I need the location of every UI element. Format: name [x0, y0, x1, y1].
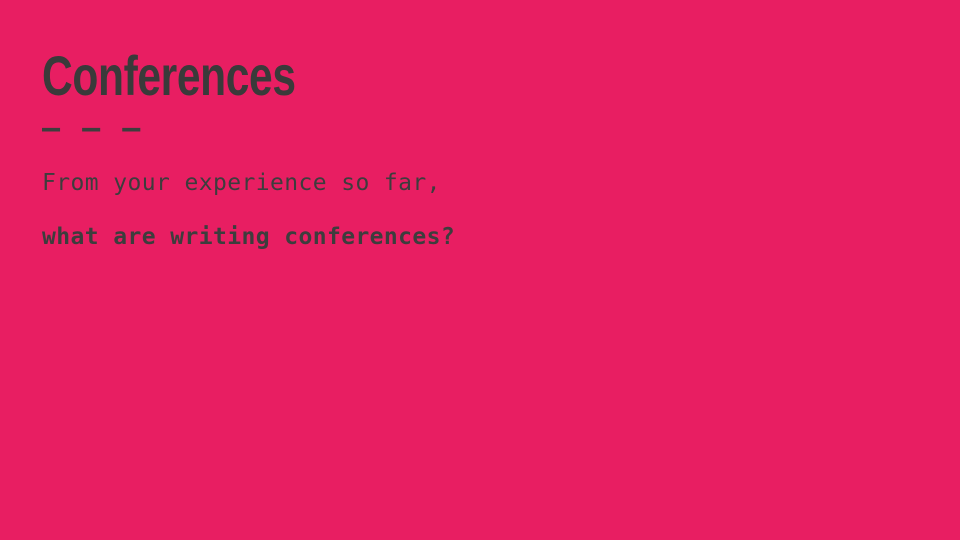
slide-content: Conferences — — — From your experience s… — [42, 48, 900, 264]
slide-body: From your experience so far, what are wr… — [42, 148, 900, 264]
body-line-prompt: From your experience so far, — [42, 156, 900, 210]
slide-canvas: Conferences — — — From your experience s… — [0, 0, 960, 540]
page-title: Conferences — [42, 48, 694, 104]
title-divider: — — — — [42, 104, 900, 148]
body-line-question: what are writing conferences? — [42, 210, 900, 264]
